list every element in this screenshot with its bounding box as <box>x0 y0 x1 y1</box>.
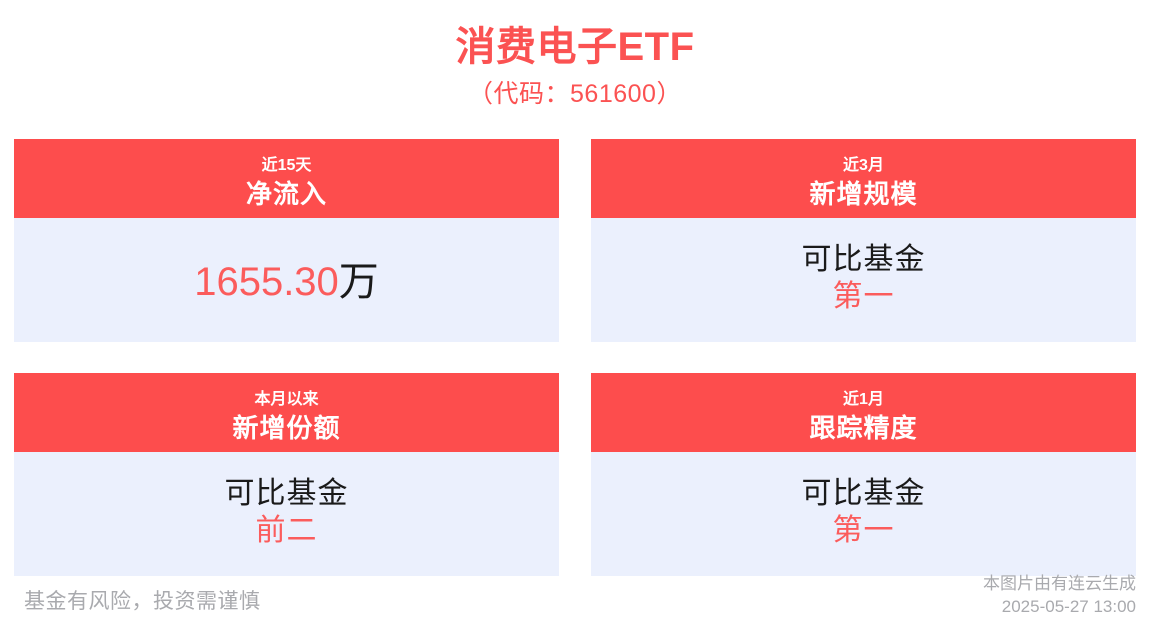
page-title: 消费电子ETF <box>0 22 1150 72</box>
metric-card-period: 本月以来 <box>14 389 559 411</box>
metric-value-number: 1655.30 <box>194 260 339 304</box>
metric-card-header: 近15天 净流入 <box>14 139 559 218</box>
metric-card-new-scale: 近3月 新增规模 可比基金 第一 <box>591 139 1136 342</box>
metric-card-title: 跟踪精度 <box>591 411 1136 445</box>
metric-value-rank: 第一 <box>833 278 895 315</box>
metric-card-period: 近3月 <box>591 155 1136 177</box>
metric-card-title: 净流入 <box>14 177 559 211</box>
page-header: 消费电子ETF （代码：561600） <box>0 0 1150 112</box>
image-credit-timestamp: 2025-05-27 13:00 <box>983 595 1136 618</box>
metric-card-value-row: 1655.30万 <box>194 249 379 308</box>
etf-summary-page: 消费电子ETF （代码：561600） 近15天 净流入 1655.30万 近3… <box>0 0 1150 632</box>
metric-card-period: 近1月 <box>591 389 1136 411</box>
metric-card-header: 近1月 跟踪精度 <box>591 373 1136 452</box>
metric-value-unit: 万 <box>339 260 379 304</box>
page-footer: 基金有风险，投资需谨慎 本图片由有连云生成 2025-05-27 13:00 <box>0 566 1150 632</box>
metric-value-caption: 可比基金 <box>802 241 926 278</box>
metric-card-body: 可比基金 前二 <box>14 452 559 576</box>
metric-card-grid: 近15天 净流入 1655.30万 近3月 新增规模 可比基金 第一 本 <box>14 139 1136 576</box>
metric-card-body: 1655.30万 <box>14 218 559 338</box>
metric-card-tracking-accuracy: 近1月 跟踪精度 可比基金 第一 <box>591 373 1136 576</box>
metric-value-rank: 前二 <box>256 512 318 549</box>
risk-disclaimer: 基金有风险，投资需谨慎 <box>24 588 261 618</box>
metric-value-caption: 可比基金 <box>225 475 349 512</box>
metric-card-title: 新增份额 <box>14 411 559 445</box>
metric-card-header: 近3月 新增规模 <box>591 139 1136 218</box>
image-credit-source: 本图片由有连云生成 <box>983 572 1136 595</box>
metric-card-net-inflow: 近15天 净流入 1655.30万 <box>14 139 559 342</box>
metric-card-body: 可比基金 第一 <box>591 452 1136 576</box>
metric-value-caption: 可比基金 <box>802 475 926 512</box>
image-credit: 本图片由有连云生成 2025-05-27 13:00 <box>983 572 1136 618</box>
metric-card-header: 本月以来 新增份额 <box>14 373 559 452</box>
metric-card-new-shares: 本月以来 新增份额 可比基金 前二 <box>14 373 559 576</box>
metric-value-rank: 第一 <box>833 512 895 549</box>
metric-card-period: 近15天 <box>14 155 559 177</box>
metric-card-title: 新增规模 <box>591 177 1136 211</box>
fund-code-subtitle: （代码：561600） <box>0 76 1150 112</box>
metric-card-body: 可比基金 第一 <box>591 218 1136 342</box>
